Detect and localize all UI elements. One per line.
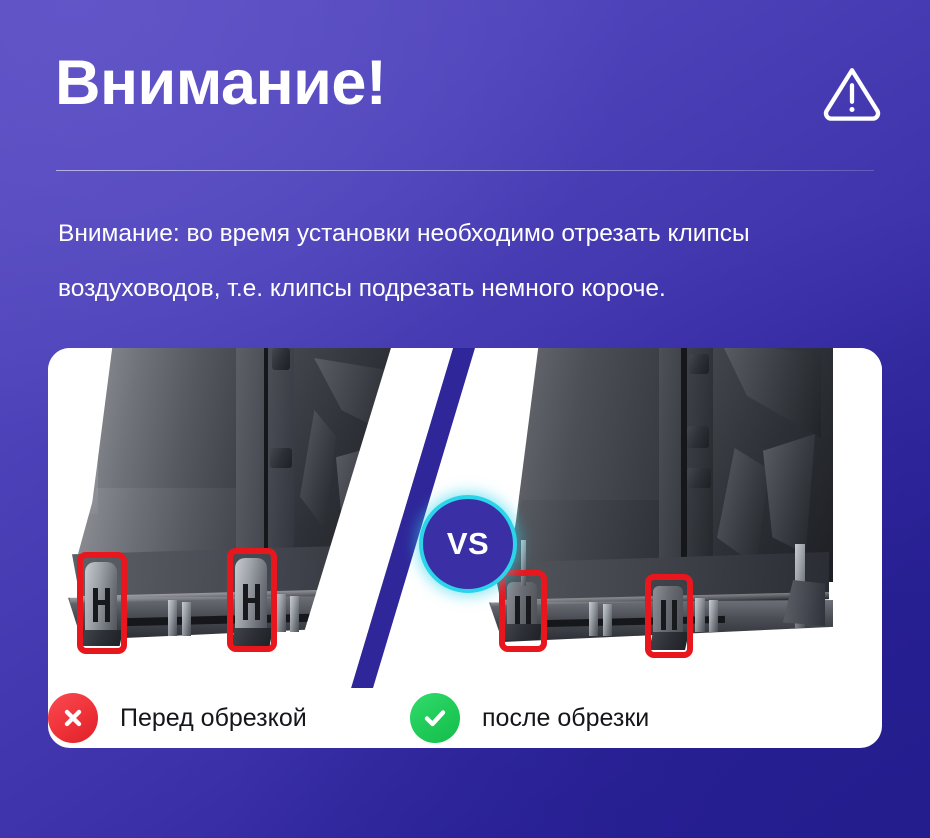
page-title: Внимание! bbox=[55, 52, 386, 115]
page-header: Внимание! bbox=[0, 0, 930, 172]
notice-paragraph: Внимание: во время установки необходимо … bbox=[58, 206, 888, 316]
cross-icon bbox=[48, 693, 98, 743]
clip-highlight-box bbox=[645, 574, 693, 658]
clip-highlight-box bbox=[77, 552, 127, 654]
attention-notice-page: Внимание! Внимание: во время установки н… bbox=[0, 0, 930, 838]
check-icon bbox=[410, 693, 460, 743]
clip-highlight-box bbox=[227, 548, 277, 652]
vs-label: VS bbox=[447, 526, 489, 562]
after-label-row: после обрезки bbox=[410, 688, 649, 748]
warning-triangle-icon bbox=[821, 62, 883, 124]
after-label-text: после обрезки bbox=[482, 704, 649, 733]
clip-highlight-box bbox=[499, 570, 547, 652]
notice-line-1: Внимание: во время установки необходимо … bbox=[58, 206, 888, 261]
photo-before-cutting bbox=[48, 348, 465, 688]
vs-badge: VS bbox=[419, 495, 517, 593]
notice-line-2: воздуховодов, т.е. клипсы подрезать немн… bbox=[58, 261, 888, 316]
header-divider bbox=[56, 170, 874, 171]
photo-after-cutting bbox=[465, 348, 882, 688]
before-label-row: Перед обрезкой bbox=[48, 688, 307, 748]
before-label-text: Перед обрезкой bbox=[120, 704, 307, 733]
